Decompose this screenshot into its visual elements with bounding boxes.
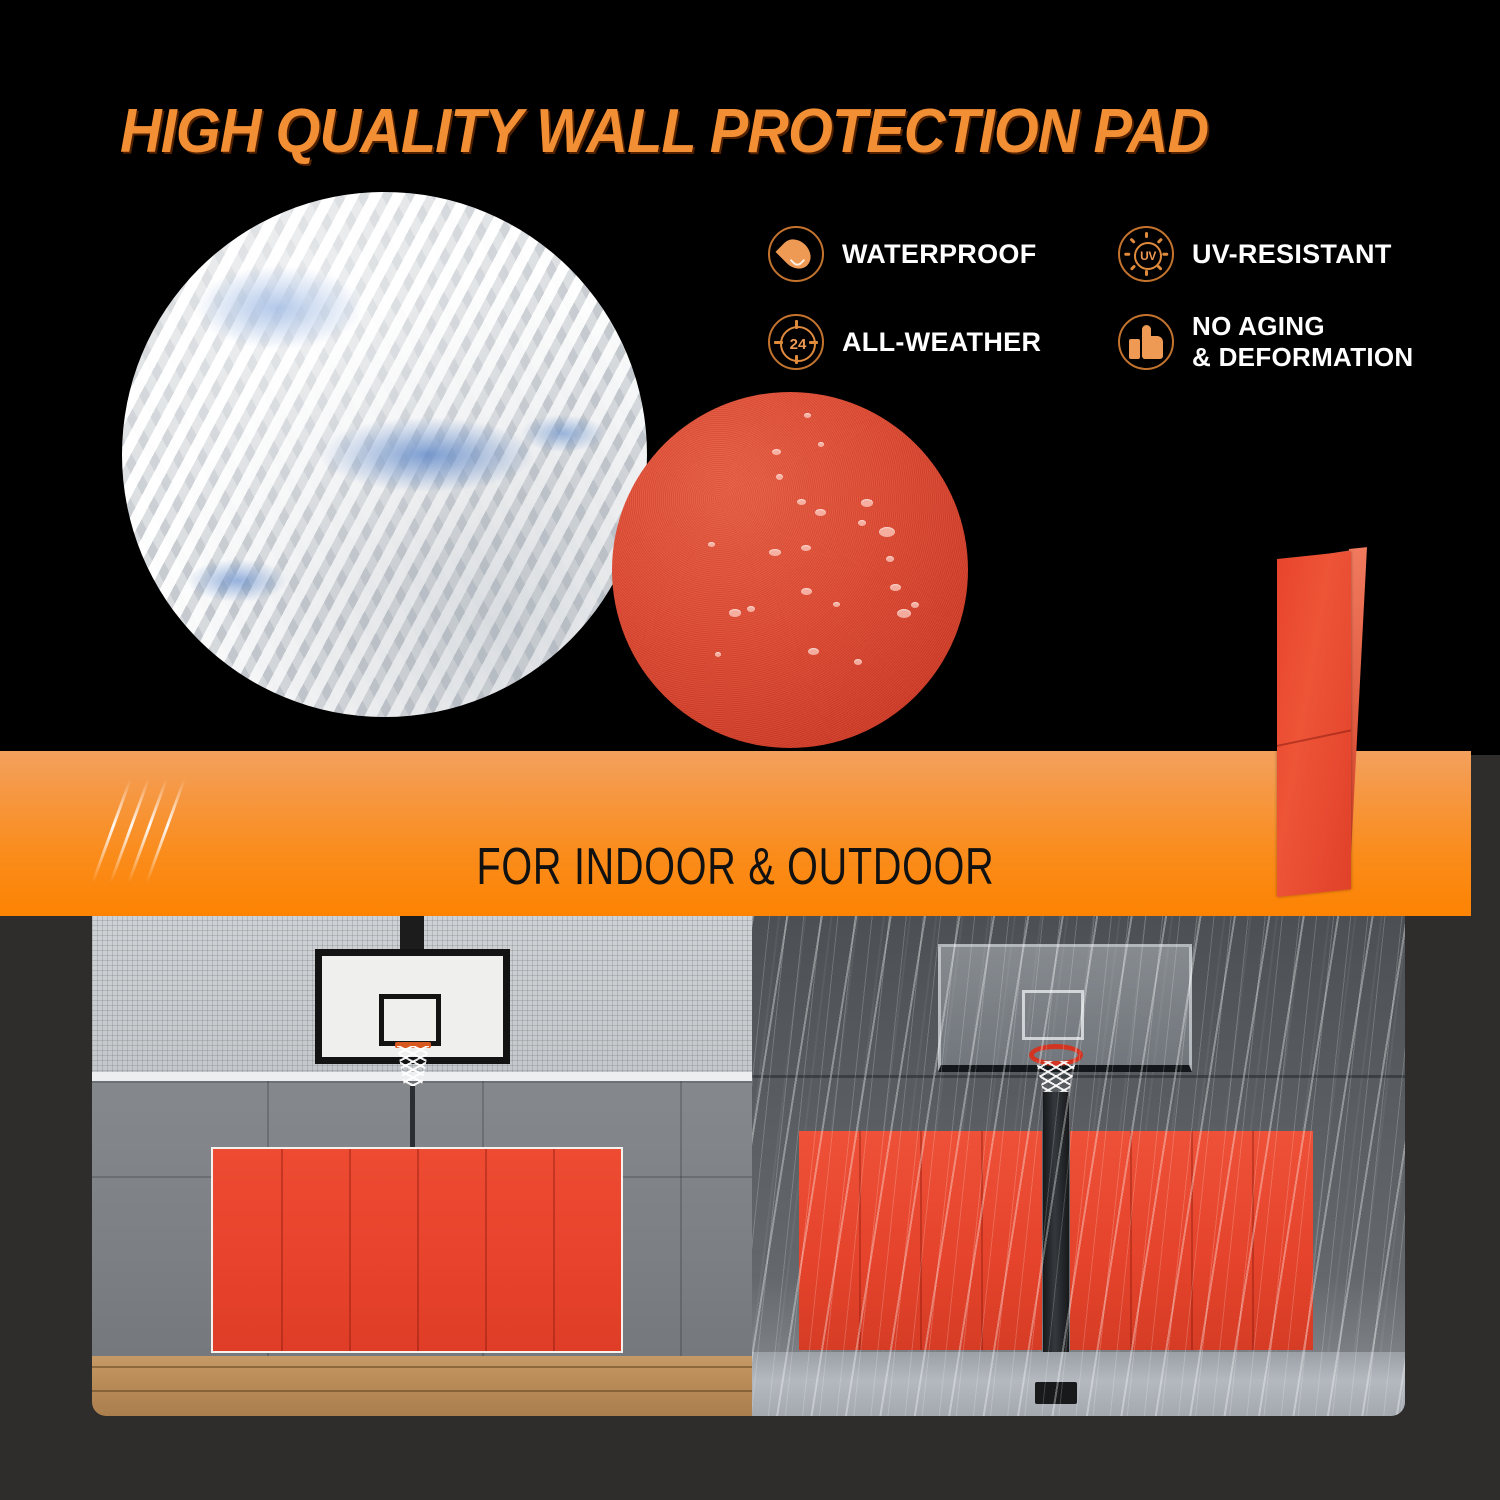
feature-row-1: WATERPROOF UV UV-RESISTANT bbox=[768, 210, 1468, 298]
clock-icon-text: 24 bbox=[790, 336, 807, 353]
feature-row-2: 24 ALL-WEATHER NO AGING & DEFORMATION bbox=[768, 298, 1468, 386]
outdoor-wall-pad-right bbox=[1070, 1131, 1313, 1350]
mesh-closeup-photo bbox=[122, 192, 647, 717]
mesh-gloss-overlay bbox=[122, 192, 647, 717]
feature-all-weather: 24 ALL-WEATHER bbox=[768, 298, 1118, 386]
feature-label: UV-RESISTANT bbox=[1192, 239, 1392, 270]
indoor-wall-pad bbox=[211, 1147, 623, 1353]
uv-icon-text: UV bbox=[1140, 249, 1156, 263]
feature-uv-resistant: UV UV-RESISTANT bbox=[1118, 210, 1468, 298]
feature-no-aging: NO AGING & DEFORMATION bbox=[1118, 298, 1468, 386]
feature-label-line2: & DEFORMATION bbox=[1192, 342, 1414, 373]
page-title: HIGH QUALITY WALL PROTECTION PAD bbox=[120, 96, 1208, 168]
indoor-outdoor-banner: FOR INDOOR & OUTDOOR bbox=[0, 751, 1471, 916]
feature-label: NO AGING bbox=[1192, 311, 1414, 342]
water-drop-icon bbox=[768, 226, 824, 282]
uv-sun-icon: UV bbox=[1118, 226, 1174, 282]
indoor-gym-photo bbox=[92, 916, 752, 1416]
feature-label: WATERPROOF bbox=[842, 239, 1037, 270]
water-droplets bbox=[612, 392, 968, 748]
red-surface-photo bbox=[612, 392, 968, 748]
feature-waterproof: WATERPROOF bbox=[768, 210, 1118, 298]
outdoor-wall-pad-left bbox=[799, 1131, 1042, 1350]
photo-gallery bbox=[92, 916, 1405, 1416]
product-infographic: HIGH QUALITY WALL PROTECTION PAD bbox=[0, 0, 1500, 1500]
thumbs-up-icon bbox=[1118, 314, 1174, 370]
feature-label: ALL-WEATHER bbox=[842, 327, 1041, 358]
clock-24-icon: 24 bbox=[768, 314, 824, 370]
hero-section: HIGH QUALITY WALL PROTECTION PAD bbox=[0, 0, 1500, 755]
feature-list: WATERPROOF UV UV-RESISTANT bbox=[768, 210, 1468, 386]
banner-text: FOR INDOOR & OUTDOOR bbox=[177, 839, 1295, 895]
outdoor-rain-photo bbox=[752, 916, 1405, 1416]
product-pad-render bbox=[1277, 545, 1369, 897]
